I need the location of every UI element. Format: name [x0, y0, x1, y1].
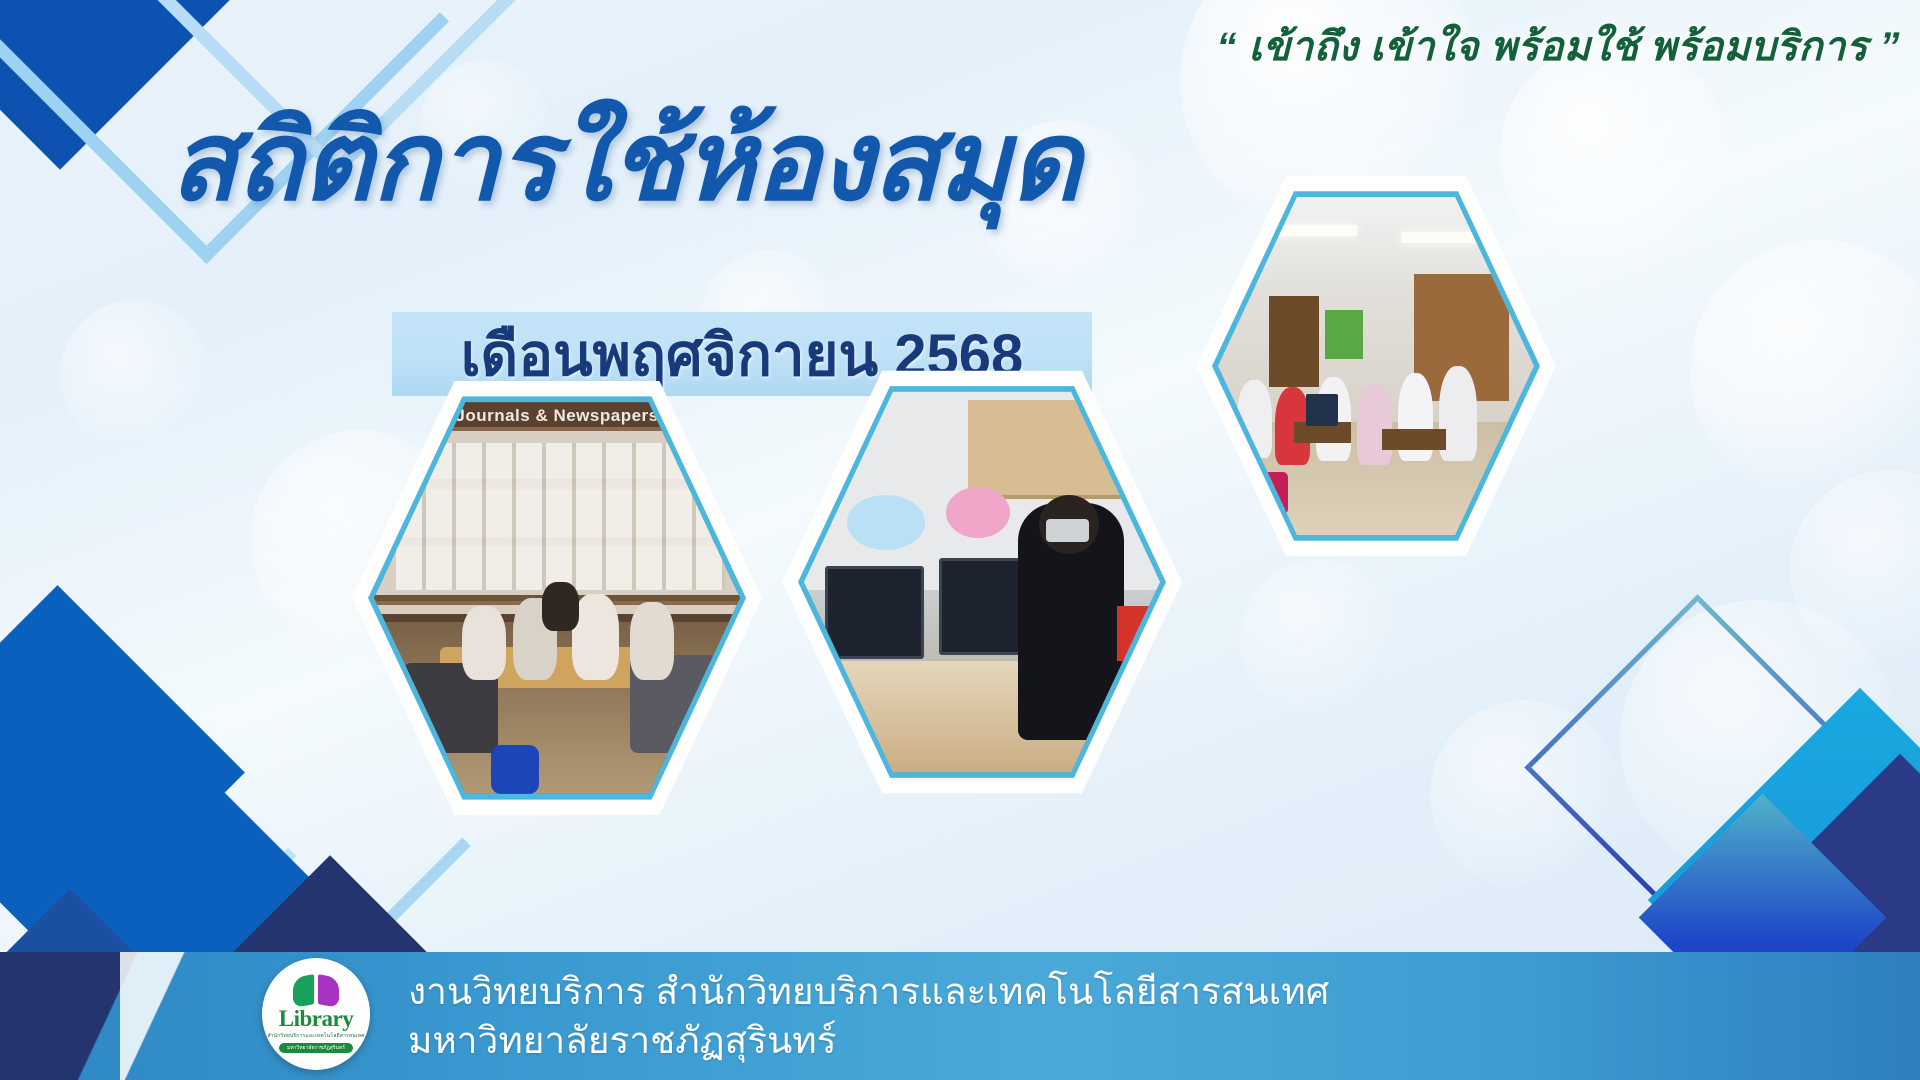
photo-person [462, 606, 506, 679]
photo-laptop [1306, 394, 1338, 426]
photo-journals-newspapers: Journals & Newspapers [374, 394, 740, 802]
photo-magazine-boxes [396, 443, 725, 590]
photo-face-mask [1046, 519, 1089, 543]
photo-backpack [491, 745, 539, 794]
photo-sign [847, 495, 925, 550]
photo-caption-journals: Journals & Newspapers [374, 406, 740, 426]
photo-ceiling [1218, 190, 1534, 282]
hex-frame: Journals & Newspapers [352, 372, 762, 824]
logo-wordmark: Library [279, 1007, 353, 1030]
hex-photo-clip [1218, 190, 1534, 542]
footer-bar: Library สำนักวิทยบริการและเทคโนโลยีสารสน… [0, 952, 1920, 1080]
photo-hexagon-journals: Journals & Newspapers [352, 372, 762, 824]
photo-monitor [939, 558, 1030, 655]
photo-person [630, 602, 674, 680]
hex-frame [782, 362, 1182, 802]
footer-text-block: งานวิทยบริการ สำนักวิทยบริการและเทคโนโลย… [408, 968, 1329, 1066]
photo-desk [1382, 429, 1445, 450]
photo-green-shelf [1325, 310, 1363, 359]
bokeh-circle [1690, 240, 1920, 500]
photo-ceiling-light [1401, 232, 1483, 243]
hex-frame [1196, 168, 1556, 564]
photo-computer-lab [1218, 190, 1534, 542]
photo-hexagon-counter [782, 362, 1182, 802]
hex-photo-clip: Journals & Newspapers [374, 394, 740, 802]
photo-shelf [1269, 296, 1320, 388]
photo-cabinet [968, 400, 1160, 499]
footer-line-1: งานวิทยบริการ สำนักวิทยบริการและเทคโนโลย… [408, 968, 1329, 1017]
tagline: “ เข้าถึง เข้าใจ พร้อมใช้ พร้อมบริการ ” [1020, 14, 1900, 78]
footer-line-2: มหาวิทยาลัยราชภัฏสุรินทร์ [408, 1017, 1329, 1066]
photo-hexagon-lab [1196, 168, 1556, 564]
bokeh-circle [1240, 560, 1400, 720]
page-title: สถิติการใช้ห้องสมุด [170, 104, 1080, 220]
photo-person-head [542, 582, 579, 631]
photo-service-counter [804, 384, 1160, 780]
hex-photo-clip [804, 384, 1160, 780]
photo-student [1357, 384, 1392, 465]
poster-canvas: “ เข้าถึง เข้าใจ พร้อมใช้ พร้อมบริการ ” … [0, 0, 1920, 1080]
bokeh-circle [60, 300, 210, 450]
logo-pill-text: มหาวิทยาลัยราชภัฏสุรินทร์ [279, 1043, 353, 1053]
photo-monitor [825, 566, 924, 659]
bokeh-circle [1790, 470, 1920, 670]
logo-subtext: สำนักวิทยบริการและเทคโนโลยีสารสนเทศ [267, 1032, 364, 1040]
library-logo: Library สำนักวิทยบริการและเทคโนโลยีสารสน… [262, 958, 370, 1070]
open-book-icon [293, 976, 339, 1006]
